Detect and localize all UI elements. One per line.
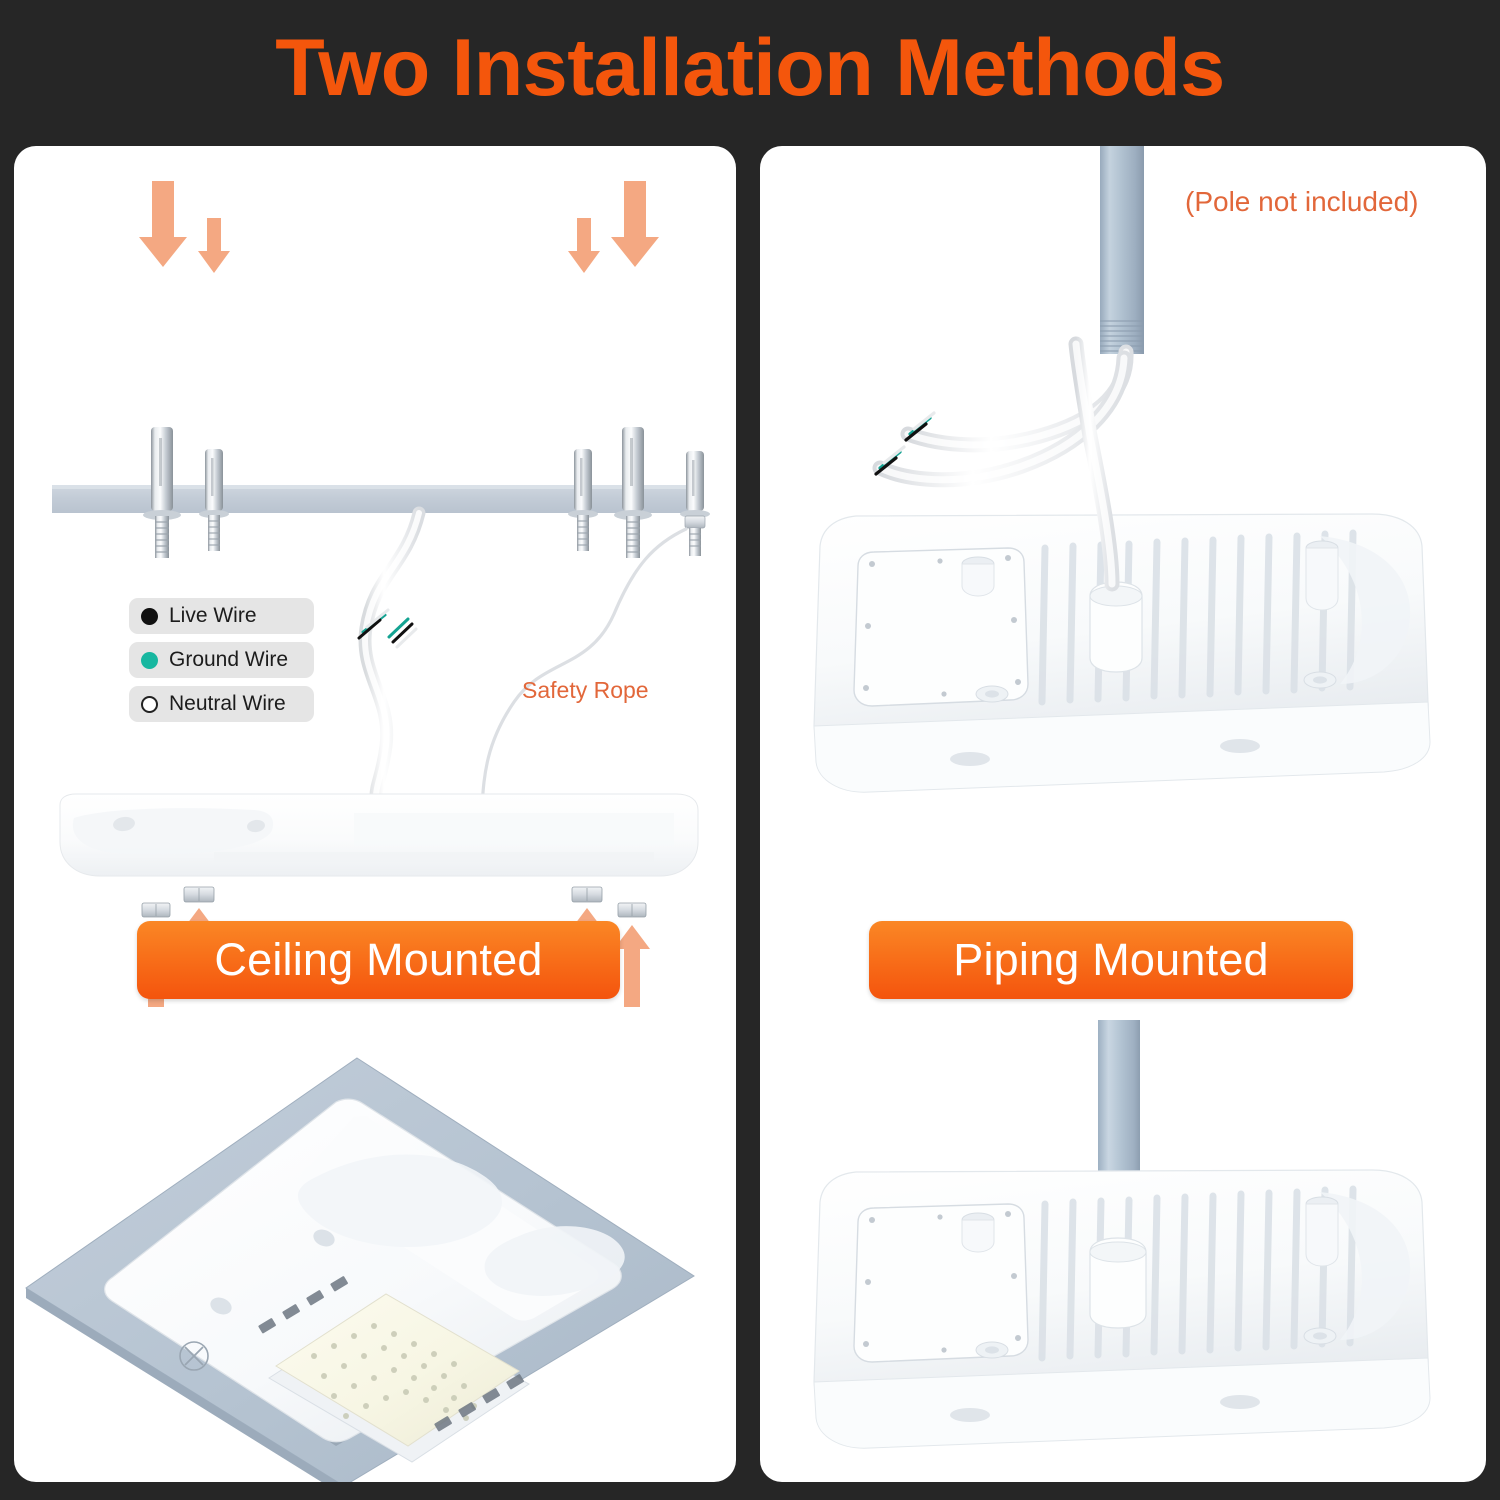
page-title: Two Installation Methods	[0, 26, 1500, 111]
power-cable	[357, 513, 419, 807]
live-wire-dot-icon	[141, 608, 158, 625]
safety-rope	[482, 529, 686, 806]
mounting-pole	[1100, 146, 1144, 354]
down-arrow	[139, 181, 187, 267]
canopy-light-fixture	[105, 1099, 625, 1462]
hex-nut	[184, 887, 214, 902]
fixture-top-view	[814, 344, 1430, 792]
pole-not-included-label: (Pole not included)	[1185, 186, 1418, 218]
legend-label: Ground Wire	[169, 648, 288, 672]
piping-installed-illustration	[760, 1026, 1486, 1482]
panel-piping-mounted: (Pole not included)	[760, 146, 1486, 1482]
nut-group	[142, 887, 646, 917]
label-piping-mounted: Piping Mounted	[869, 921, 1353, 999]
hex-nut	[142, 903, 170, 917]
legend-label: Neutral Wire	[169, 692, 286, 716]
down-arrow	[198, 218, 230, 273]
conduit-gland	[1090, 582, 1142, 672]
panel-ceiling-mounted: Live Wire Ground Wire Neutral Wire Safet…	[14, 146, 736, 1482]
legend-item-live-wire: Live Wire	[129, 598, 314, 634]
ground-wire-dot-icon	[141, 652, 158, 669]
driver-cover	[854, 548, 1028, 706]
hex-nut	[572, 887, 602, 902]
fixture-side-view	[60, 794, 698, 876]
fixture-top-view-installed	[814, 1170, 1430, 1448]
driver-cover	[854, 1204, 1028, 1362]
ceiling-tile-installed-illustration	[14, 1026, 736, 1482]
down-arrow	[568, 218, 600, 273]
hex-nut	[618, 903, 646, 917]
legend-item-ground-wire: Ground Wire	[129, 642, 314, 678]
safety-rope-label: Safety Rope	[522, 677, 649, 704]
label-ceiling-mounted: Ceiling Mounted	[137, 921, 620, 999]
legend-item-neutral-wire: Neutral Wire	[129, 686, 314, 722]
ceiling-rail	[52, 485, 698, 513]
neutral-wire-dot-icon	[141, 696, 158, 713]
legend-label: Live Wire	[169, 604, 257, 628]
wire-legend: Live Wire Ground Wire Neutral Wire	[129, 598, 314, 730]
ceiling-mount-exploded-diagram	[14, 146, 736, 926]
down-arrow-group	[139, 181, 659, 273]
conduit-gland	[1090, 1238, 1146, 1328]
down-arrow	[611, 181, 659, 267]
piping-mount-exploded-diagram	[760, 146, 1486, 926]
installation-methods-infographic: Two Installation Methods	[0, 0, 1500, 1500]
